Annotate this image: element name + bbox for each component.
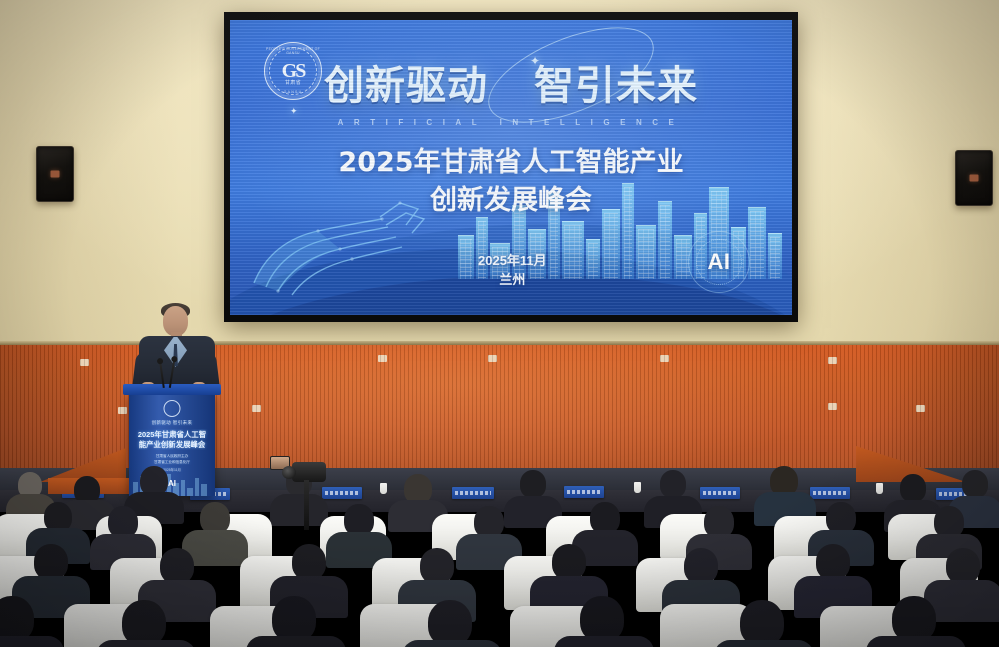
audience-shoulders: [270, 494, 328, 526]
audience-head: [962, 470, 988, 498]
wall-speaker-right-icon: [955, 150, 993, 206]
screen-subtitle: 2025年甘肃省人工智能产业 创新发展峰会: [230, 144, 792, 221]
audience-head: [520, 470, 546, 498]
audience-shoulders: [246, 636, 346, 647]
conference-hall-photo: PEOPLE'S GOVERNMENT OF GANSU GS 甘肃省 GANS…: [0, 0, 999, 647]
audience-shoulders: [0, 636, 64, 647]
wall-speaker-left-icon: [36, 146, 74, 202]
podium-top-surface: [123, 384, 221, 395]
led-screen: PEOPLE'S GOVERNMENT OF GANSU GS 甘肃省 GANS…: [230, 20, 792, 315]
audience-shoulders: [714, 640, 814, 647]
sparkle-icon-2: ✦: [290, 106, 298, 117]
headline-part1: 创新驱动: [324, 63, 488, 109]
event-location: 兰州: [478, 271, 547, 290]
audience-head: [900, 474, 926, 502]
audience-head: [660, 470, 686, 498]
screen-english-tagline: ARTIFICIAL INTELLIGENCE: [230, 118, 792, 127]
camera-lens-icon: [282, 466, 296, 479]
audience-shoulders: [554, 636, 654, 647]
audience-head: [160, 548, 194, 584]
audience-head: [34, 544, 68, 580]
camera-tripod-icon: [304, 480, 309, 530]
headline-part2: 智引未来: [534, 63, 698, 109]
ai-badge-label: AI: [708, 249, 731, 275]
audience-head: [420, 548, 454, 584]
audience-shoulders: [402, 640, 502, 647]
audience-shoulders: [866, 636, 966, 647]
audience-head: [552, 544, 586, 580]
audience-head: [816, 544, 850, 580]
audience: [0, 452, 999, 647]
podium-tagline: 创新驱动 智引未来: [129, 420, 215, 426]
screen-headline: 创新驱动智引未来: [230, 66, 792, 106]
emblem-outer-text-top: PEOPLE'S GOVERNMENT OF GANSU: [265, 47, 321, 55]
podium-emblem-icon: [164, 400, 181, 417]
audience-head: [946, 548, 980, 584]
audience-head: [684, 548, 718, 584]
event-date: 2025年11月: [478, 252, 547, 271]
audience-head: [292, 544, 326, 580]
audience-shoulders: [96, 640, 196, 647]
camera-body-icon: [292, 462, 326, 482]
ai-badge-icon: AI: [688, 231, 750, 293]
subtitle-line-1: 2025年甘肃省人工智能产业: [230, 144, 792, 182]
podium-title-2: 能产业创新发展峰会: [129, 439, 215, 450]
led-screen-bezel: PEOPLE'S GOVERNMENT OF GANSU GS 甘肃省 GANS…: [224, 12, 798, 322]
subtitle-line-2: 创新发展峰会: [230, 182, 792, 220]
screen-event-meta: 2025年11月 兰州: [478, 252, 547, 290]
